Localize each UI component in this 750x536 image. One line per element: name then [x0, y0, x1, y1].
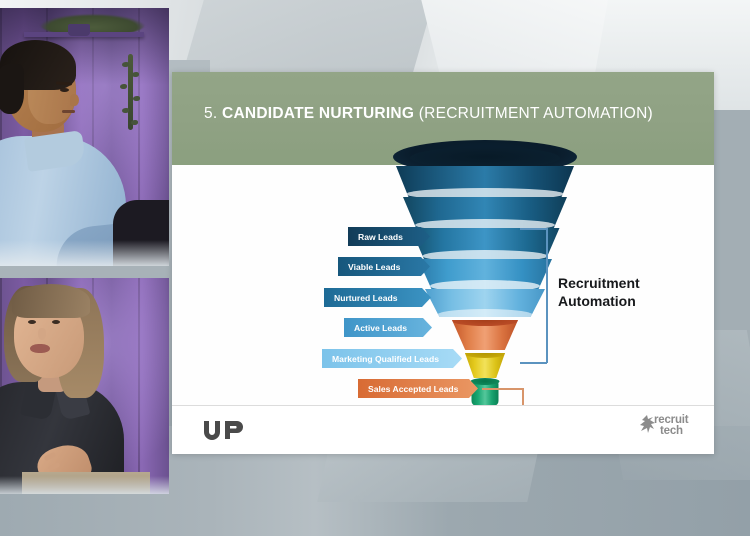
up-logo-mark	[202, 419, 250, 441]
recruitment-tech-logo-text: recruit tech	[654, 415, 688, 438]
vine-leaf	[122, 108, 129, 113]
recruitment-tech-logo: recruit tech	[638, 414, 714, 446]
title-rest: (RECRUITMENT AUTOMATION)	[419, 105, 653, 122]
funnel-label-marketing-qualified-leads: Marketing Qualified Leads	[322, 349, 462, 368]
slide-footer: UP recruit tech	[172, 406, 714, 454]
video-frame	[0, 8, 169, 266]
slide-body: Raw Leads Viable Leads Nurtured Leads Ac…	[172, 165, 714, 406]
annotation-line-1: Recruitment	[558, 274, 640, 292]
funnel-cup-rim	[471, 378, 500, 385]
funnel-segment-opportunities	[465, 353, 505, 378]
label-text: Raw Leads	[358, 232, 403, 242]
speaker-eye-right	[52, 320, 60, 324]
logo-line-2: tech	[660, 426, 688, 437]
funnel-label-sales-accepted-leads: Sales Accepted Leads	[358, 379, 478, 398]
speaker-nose	[38, 328, 46, 340]
tile-bottom-fade	[0, 476, 169, 494]
funnel-label-raw-leads: Raw Leads	[348, 227, 430, 246]
label-text: Nurtured Leads	[334, 293, 398, 303]
presentation-slide: 5. CANDIDATE NURTURING (RECRUITMENT AUTO…	[172, 72, 714, 454]
vine-leaf	[131, 120, 138, 125]
vine-leaf	[120, 84, 127, 89]
speaker-mouth	[30, 344, 50, 353]
speaker-hair-side	[0, 64, 24, 114]
speaker-eye-left	[28, 320, 36, 324]
title-bold: CANDIDATE NURTURING	[222, 105, 414, 122]
funnel-label-viable-leads: Viable Leads	[338, 257, 430, 276]
bracket-ra-bottom-arm	[520, 362, 547, 364]
funnel-rim-inner	[410, 147, 560, 169]
funnel-segment-divider	[437, 309, 533, 321]
label-text: Sales Accepted Leads	[368, 384, 458, 394]
video-tile-speaker-bottom[interactable]	[0, 278, 169, 494]
funnel-segment-sales-accepted-leads	[452, 320, 518, 350]
funnel-segment-marketing-qualified-leads	[425, 289, 545, 317]
title-number: 5.	[204, 105, 217, 122]
label-text: Active Leads	[354, 323, 407, 333]
vine-leaf	[132, 72, 139, 77]
label-text: Viable Leads	[348, 262, 400, 272]
page-title: 5. CANDIDATE NURTURING (RECRUITMENT AUTO…	[204, 105, 653, 123]
tile-bottom-fade	[0, 240, 169, 266]
up-logo: UP	[202, 418, 254, 442]
funnel-segment-nurtured-leads	[411, 228, 560, 259]
video-frame	[0, 278, 169, 494]
bracket-ats-top-arm	[482, 388, 524, 390]
speaker-mouth	[62, 110, 75, 113]
speaker-eye	[60, 88, 69, 92]
funnel-segment-raw-leads	[396, 166, 574, 197]
label-text: Marketing Qualified Leads	[332, 354, 439, 364]
annotation-line-2: Automation	[558, 292, 640, 310]
funnel-segment-active-leads	[418, 259, 552, 289]
vine-leaf	[122, 62, 129, 67]
bracket-ra-top-arm	[520, 228, 547, 230]
bracket-ra-spine	[546, 228, 548, 363]
plant-pot	[68, 24, 90, 36]
funnel-label-active-leads: Active Leads	[344, 318, 432, 337]
funnel-segment-viable-leads	[403, 197, 567, 228]
video-tile-speaker-top[interactable]	[0, 8, 169, 266]
funnel-label-nurtured-leads: Nurtured Leads	[324, 288, 431, 307]
funnel-cup-rim	[464, 349, 506, 358]
speaker-hair-top	[12, 284, 90, 318]
annotation-recruitment-automation: Recruitment Automation	[558, 274, 640, 311]
funnel-segment-closed-won	[472, 381, 499, 406]
vine-leaf	[133, 96, 140, 101]
speaker-nose	[70, 94, 79, 106]
